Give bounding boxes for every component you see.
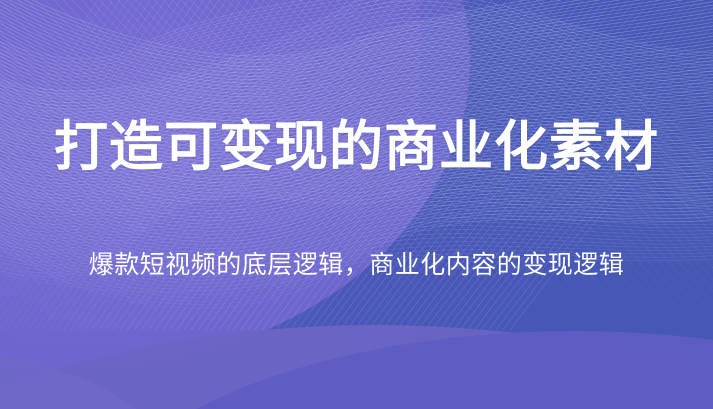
bottom-arc-left bbox=[0, 350, 190, 409]
banner-subtitle: 爆款短视频的底层逻辑，商业化内容的变现逻辑 bbox=[0, 248, 713, 282]
bottom-arc-far bbox=[0, 325, 713, 409]
wireframe-wave-decoration bbox=[0, 0, 713, 409]
bottom-arc-near bbox=[84, 331, 713, 409]
purple-glow-blob bbox=[0, 0, 470, 370]
course-banner: 打造可变现的商业化素材 爆款短视频的底层逻辑，商业化内容的变现逻辑 bbox=[0, 0, 713, 409]
banner-title: 打造可变现的商业化素材 bbox=[0, 116, 713, 178]
